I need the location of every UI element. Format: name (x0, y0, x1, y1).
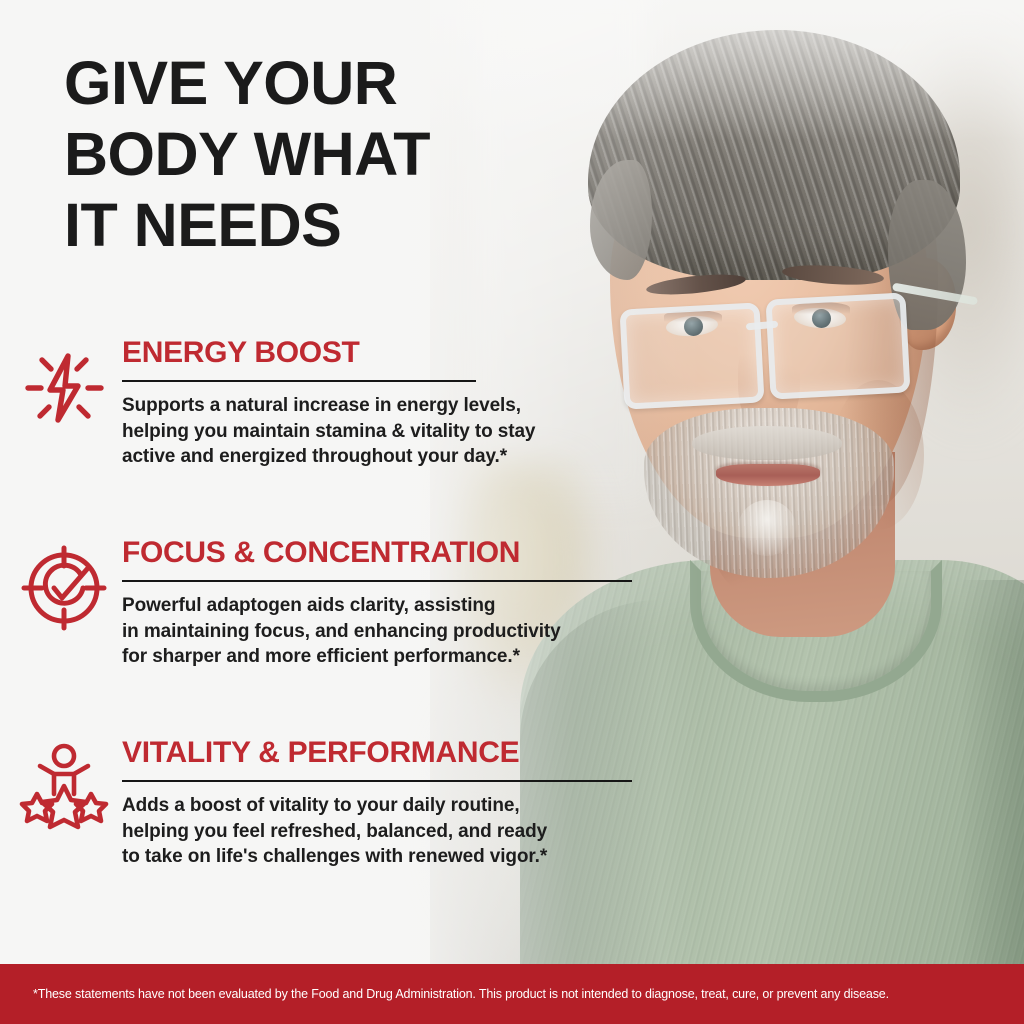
feature-body: VITALITY & PERFORMANCE Adds a boost of v… (122, 736, 632, 870)
feature-body: FOCUS & CONCENTRATION Powerful adaptogen… (122, 536, 632, 670)
subject-mustache (692, 426, 842, 460)
feature-divider (122, 580, 632, 582)
headline-line-3: IT NEEDS (64, 190, 534, 261)
subject-chin-beard (738, 500, 796, 556)
feature-title: FOCUS & CONCENTRATION (122, 536, 632, 570)
feature-item-vitality-performance: VITALITY & PERFORMANCE Adds a boost of v… (0, 736, 700, 936)
feature-description: Adds a boost of vitality to your daily r… (122, 793, 632, 870)
person-stars-icon (18, 742, 110, 834)
disclaimer-text: *These statements have not been evaluate… (0, 987, 889, 1001)
feature-item-energy-boost: ENERGY BOOST Supports a natural increase… (0, 336, 700, 536)
feature-title: VITALITY & PERFORMANCE (122, 736, 632, 770)
feature-item-focus-concentration: FOCUS & CONCENTRATION Powerful adaptogen… (0, 536, 700, 736)
feature-list: ENERGY BOOST Supports a natural increase… (0, 336, 700, 936)
page-title: GIVE YOUR BODY WHAT IT NEEDS (64, 48, 534, 261)
feature-description: Supports a natural increase in energy le… (122, 393, 535, 470)
headline-line-2: BODY WHAT (64, 119, 534, 190)
feature-divider (122, 780, 632, 782)
disclaimer-bar: *These statements have not been evaluate… (0, 964, 1024, 1024)
feature-body: ENERGY BOOST Supports a natural increase… (122, 336, 535, 470)
shirt-shadow-right (960, 580, 1024, 1000)
feature-description: Powerful adaptogen aids clarity, assisti… (122, 593, 632, 670)
feature-divider (122, 380, 476, 382)
eyeglass-lens-right (765, 292, 910, 399)
headline-line-1: GIVE YOUR (64, 48, 534, 119)
subject-mouth (716, 464, 820, 486)
target-checkmark-icon (18, 542, 110, 634)
feature-title: ENERGY BOOST (122, 336, 535, 370)
lightning-bolt-icon (18, 342, 110, 434)
infographic-canvas: GIVE YOUR BODY WHAT IT NEEDS ENERGY BOOS… (0, 0, 1024, 1024)
